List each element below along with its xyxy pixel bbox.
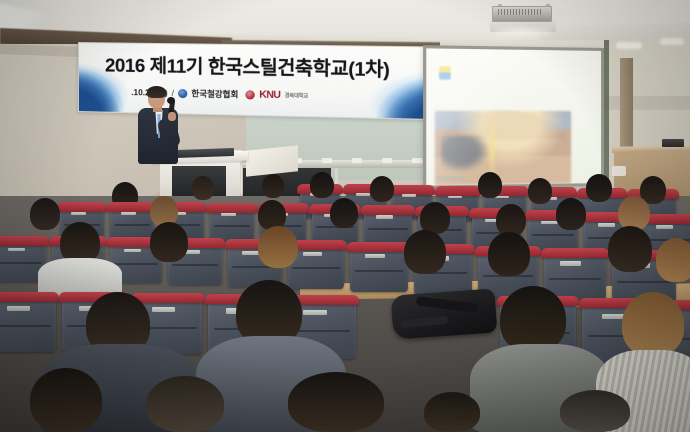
audience-head (150, 222, 188, 262)
audience-head (488, 232, 530, 276)
audience-head (560, 390, 630, 432)
slide-title (456, 67, 579, 79)
audience-head (192, 176, 214, 200)
booth-item (612, 166, 626, 176)
rail-clip (352, 158, 362, 163)
banner-org-secondary: KNU (259, 89, 280, 101)
ksa-logo-icon (178, 88, 187, 97)
microphone-head-icon (167, 97, 175, 104)
slide-footer (437, 176, 464, 181)
audience-head (258, 226, 298, 268)
audience-head (262, 174, 284, 198)
ceiling-light-icon (660, 38, 684, 45)
projection-screen-surface (426, 48, 601, 185)
audience-head (622, 292, 684, 356)
banner-org-secondary-sub: 경북대학교 (285, 91, 308, 99)
ceiling-light-icon (616, 42, 642, 49)
audience-head (30, 198, 60, 230)
projection-screen-frame (423, 45, 604, 189)
rail-clip (412, 158, 422, 163)
slide-bullet-icon (439, 66, 451, 80)
knu-logo-icon (246, 90, 255, 99)
event-banner: 2016 제11기 한국스틸건축학교(1차) .10.25(화) / 한국철강협… (78, 42, 434, 120)
audience-head (528, 178, 552, 204)
banner-org-primary: 한국철강협회 (191, 87, 238, 100)
seat (350, 246, 408, 292)
banner-title: 2016 제11기 한국스틸건축학교(1차) (105, 51, 420, 83)
audience-head (556, 198, 586, 230)
slide-image-detail (441, 135, 489, 173)
rail-clip (322, 158, 332, 163)
audience-head (618, 196, 650, 230)
lecture-hall-photo: 2016 제11기 한국스틸건축학교(1차) .10.25(화) / 한국철강협… (0, 0, 690, 432)
audience-head (146, 376, 224, 432)
audience-head (478, 172, 502, 198)
audience-head (330, 198, 358, 228)
audience-head (404, 230, 446, 274)
white-box-on-shelf (246, 145, 298, 176)
audience-head (288, 372, 384, 432)
audience-head (370, 176, 394, 202)
audience-head (500, 286, 566, 352)
seat (0, 296, 56, 352)
audience-head (310, 172, 334, 198)
av-equipment-icon (662, 139, 684, 147)
audience-head (656, 238, 690, 282)
seat (110, 206, 154, 240)
audience-head (586, 174, 612, 202)
booth-wall-band (604, 96, 690, 110)
speaker-hair (147, 86, 166, 98)
backpack (391, 288, 498, 339)
audience-head (30, 368, 102, 432)
audience-head (608, 226, 652, 272)
rail-clip (382, 158, 392, 163)
seat (364, 209, 412, 245)
projector-grill (498, 9, 542, 15)
audience-head (424, 392, 480, 432)
speaker-hand (168, 112, 176, 121)
seat (210, 207, 254, 241)
projector-lamp-glow (494, 28, 552, 37)
banner-separator: / (172, 88, 174, 97)
